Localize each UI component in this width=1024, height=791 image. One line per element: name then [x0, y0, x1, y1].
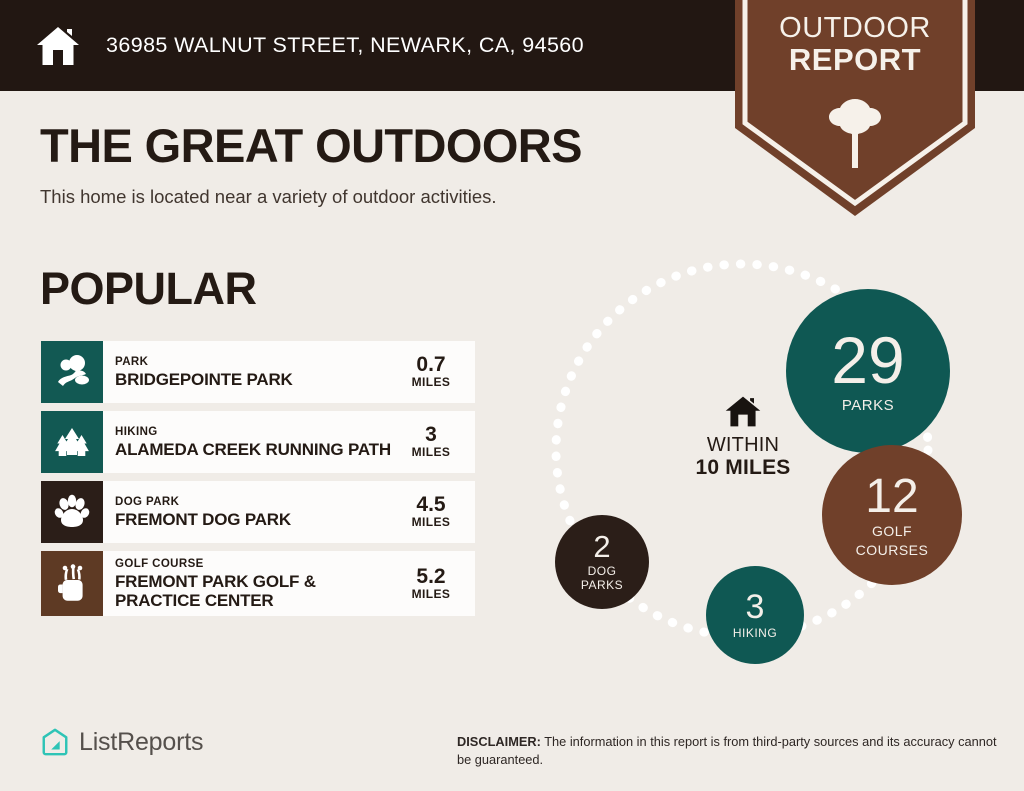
- list-item-category: HIKING: [115, 425, 397, 439]
- list-item[interactable]: DOG PARK FREMONT DOG PARK 4.5 MILES: [41, 481, 475, 543]
- list-item-distance-value: 3: [403, 424, 459, 446]
- list-item-name: FREMONT PARK GOLF & PRACTICE CENTER: [115, 572, 397, 610]
- list-item-name: ALAMEDA CREEK RUNNING PATH: [115, 440, 397, 459]
- listreports-house-icon: [40, 727, 70, 757]
- bubble-golf-value: 12: [865, 473, 918, 520]
- bubble-hiking-value: 3: [746, 591, 765, 624]
- list-item-distance-unit: MILES: [403, 376, 459, 389]
- list-item[interactable]: GOLF COURSE FREMONT PARK GOLF & PRACTICE…: [41, 551, 475, 616]
- list-item-category: PARK: [115, 355, 397, 369]
- bubble-golf-label-line1: GOLF: [872, 524, 912, 539]
- park-trees-icon: [52, 352, 92, 392]
- list-item-distance-value: 4.5: [403, 494, 459, 516]
- list-item-texts: PARK BRIDGEPOINTE PARK: [115, 355, 397, 389]
- page-subtitle: This home is located near a variety of o…: [40, 186, 497, 208]
- bubble-dog-parks-value: 2: [593, 532, 610, 562]
- list-item-texts: HIKING ALAMEDA CREEK RUNNING PATH: [115, 425, 397, 459]
- listreports-wordmark: ListReports: [79, 728, 203, 757]
- badge-shield-shape: [735, 0, 975, 216]
- list-item-icon-tile: [41, 551, 103, 616]
- list-item-distance: 3 MILES: [397, 424, 471, 459]
- list-item-distance-unit: MILES: [403, 588, 459, 601]
- list-item-name: FREMONT DOG PARK: [115, 510, 397, 529]
- list-item-category: DOG PARK: [115, 495, 397, 509]
- chart-center-label: WITHIN 10 MILES: [678, 395, 808, 480]
- within-10-miles-bubble-chart: 29 PARKS 12 GOLF COURSES 3 HIKING 2 DOG …: [520, 225, 1024, 670]
- popular-heading: POPULAR: [40, 266, 257, 311]
- list-item-icon-tile: [41, 411, 103, 473]
- list-item-texts: DOG PARK FREMONT DOG PARK: [115, 495, 397, 529]
- list-item-distance: 5.2 MILES: [397, 566, 471, 601]
- list-item-category: GOLF COURSE: [115, 557, 397, 571]
- list-item-texts: GOLF COURSE FREMONT PARK GOLF & PRACTICE…: [115, 557, 397, 610]
- list-item[interactable]: PARK BRIDGEPOINTE PARK 0.7 MILES: [41, 341, 475, 403]
- golf-bag-icon: [54, 564, 90, 604]
- list-item-distance: 0.7 MILES: [397, 354, 471, 389]
- outdoor-report-badge: OUTDOOR REPORT: [735, 0, 975, 216]
- popular-list: PARK BRIDGEPOINTE PARK 0.7 MILES H: [41, 341, 475, 624]
- list-item-body: GOLF COURSE FREMONT PARK GOLF & PRACTICE…: [103, 551, 475, 616]
- list-item[interactable]: HIKING ALAMEDA CREEK RUNNING PATH 3 MILE…: [41, 411, 475, 473]
- bubble-hiking-label: HIKING: [733, 627, 777, 640]
- listreports-logo[interactable]: ListReports: [40, 727, 203, 757]
- chart-center-line1: WITHIN: [678, 434, 808, 456]
- list-item-distance: 4.5 MILES: [397, 494, 471, 529]
- list-item-distance-value: 5.2: [403, 566, 459, 588]
- disclaimer: DISCLAIMER: The information in this repo…: [457, 733, 997, 769]
- home-icon: [724, 395, 762, 428]
- bubble-dog-parks-label-line2: PARKS: [581, 579, 623, 592]
- bubble-dog-parks-label-line1: DOG: [588, 565, 617, 578]
- page-title: THE GREAT OUTDOORS: [40, 122, 582, 169]
- list-item-distance-unit: MILES: [403, 516, 459, 529]
- bubble-parks-value: 29: [831, 328, 904, 393]
- bubble-parks[interactable]: 29 PARKS: [786, 289, 950, 453]
- list-item-distance-unit: MILES: [403, 446, 459, 459]
- chart-center-line2: 10 MILES: [678, 456, 808, 480]
- list-item-body: DOG PARK FREMONT DOG PARK 4.5 MILES: [103, 481, 475, 543]
- outdoor-report-page: 36985 WALNUT STREET, NEWARK, CA, 94560 O…: [0, 0, 1024, 791]
- list-item-distance-value: 0.7: [403, 354, 459, 376]
- home-icon: [34, 22, 82, 70]
- list-item-body: HIKING ALAMEDA CREEK RUNNING PATH 3 MILE…: [103, 411, 475, 473]
- property-address: 36985 WALNUT STREET, NEWARK, CA, 94560: [106, 33, 584, 58]
- bubble-dog-parks[interactable]: 2 DOG PARKS: [555, 515, 649, 609]
- paw-print-icon: [53, 493, 91, 531]
- list-item-icon-tile: [41, 481, 103, 543]
- disclaimer-label: DISCLAIMER:: [457, 734, 541, 749]
- bubble-golf-label-line2: COURSES: [856, 543, 929, 558]
- list-item-icon-tile: [41, 341, 103, 403]
- pine-trees-icon: [52, 422, 92, 462]
- list-item-name: BRIDGEPOINTE PARK: [115, 370, 397, 389]
- bubble-parks-label: PARKS: [842, 398, 894, 414]
- list-item-body: PARK BRIDGEPOINTE PARK 0.7 MILES: [103, 341, 475, 403]
- bubble-golf-courses[interactable]: 12 GOLF COURSES: [822, 445, 962, 585]
- bubble-hiking[interactable]: 3 HIKING: [706, 566, 804, 664]
